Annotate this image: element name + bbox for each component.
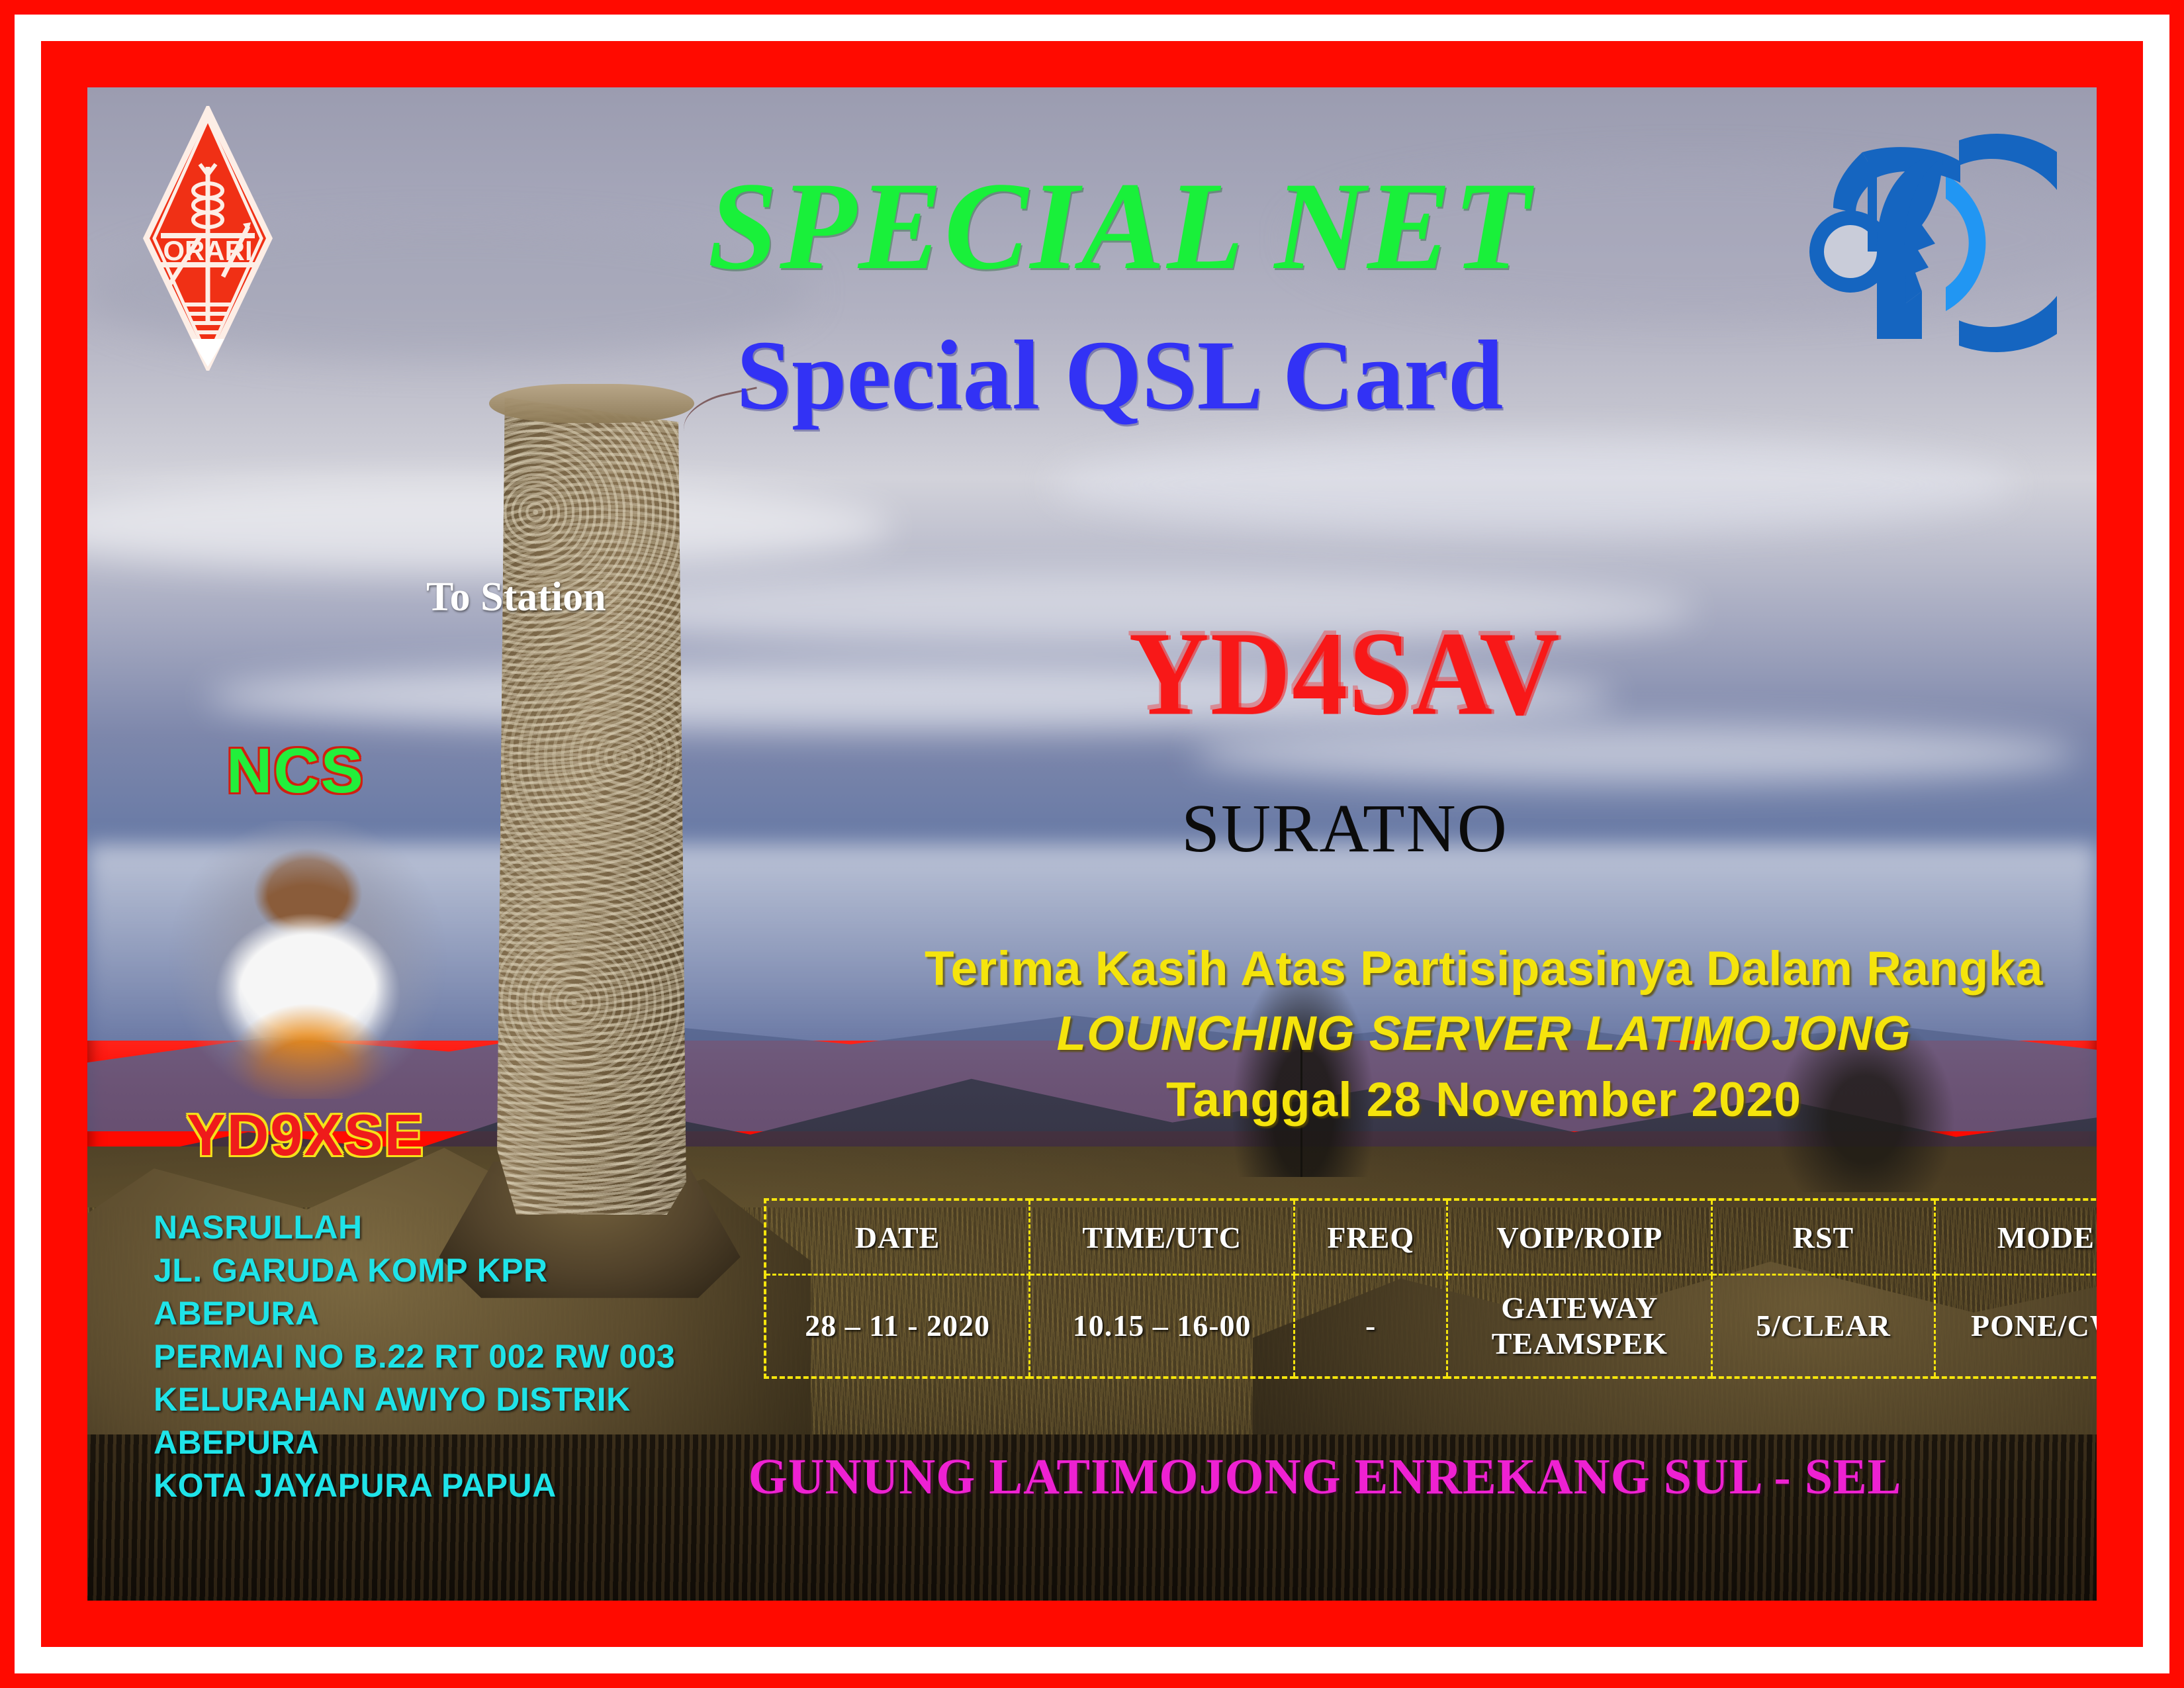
ncs-callsign: YD9XSE <box>187 1102 424 1169</box>
address-line: KELURAHAN AWIYO DISTRIK <box>154 1378 675 1421</box>
cell-rst: 5/CLEAR <box>1712 1275 1935 1378</box>
ncs-operator-photo <box>165 821 450 1099</box>
column-header-voip: VOIP/ROIP <box>1447 1199 1712 1275</box>
cell-date: 28 – 11 - 2020 <box>765 1275 1030 1378</box>
ncs-label: NCS <box>226 735 365 808</box>
event-date: Tanggal 28 November 2020 <box>815 1072 2097 1127</box>
card-white-gap: ORARI <box>15 15 2169 1673</box>
address-line: JL. GARUDA KOMP KPR <box>154 1249 675 1292</box>
thanks-line: Terima Kasih Atas Partisipasinya Dalam R… <box>815 941 2097 996</box>
event-subject: LOUNCHING SERVER LATIMOJONG <box>815 1006 2097 1061</box>
column-header-freq: FREQ <box>1295 1199 1447 1275</box>
column-header-date: DATE <box>765 1199 1030 1275</box>
table-row: 28 – 11 - 2020 10.15 – 16-00 - GATEWAY T… <box>765 1275 2097 1378</box>
card-background-photo: ORARI <box>87 87 2097 1601</box>
column-header-time: TIME/UTC <box>1030 1199 1295 1275</box>
page-title: SPECIAL NET <box>458 164 1782 289</box>
station-callsign: YD4SAV <box>908 605 1782 743</box>
cell-mode: PONE/CW <box>1934 1275 2097 1378</box>
qso-details-table: DATE TIME/UTC FREQ VOIP/ROIP RST MODE 28… <box>764 1198 2097 1379</box>
address-line: PERMAI NO B.22 RT 002 RW 003 <box>154 1335 675 1378</box>
page-subtitle: Special QSL Card <box>458 326 1782 425</box>
qsl-card: ORARI <box>0 0 2184 1688</box>
operator-name: SURATNO <box>908 789 1782 868</box>
content-layer: ORARI <box>87 87 2097 1601</box>
address-line: NASRULLAH <box>154 1206 675 1249</box>
to-station-label: To Station <box>426 574 606 621</box>
column-header-mode: MODE <box>1934 1199 2097 1275</box>
table-header-row: DATE TIME/UTC FREQ VOIP/ROIP RST MODE <box>765 1199 2097 1275</box>
cell-voip-line1: GATEWAY <box>1501 1291 1658 1325</box>
cell-freq: - <box>1295 1275 1447 1378</box>
cell-voip: GATEWAY TEAMSPEK <box>1447 1275 1712 1378</box>
orari-logo-text: ORARI <box>163 235 252 266</box>
orari-logo: ORARI <box>137 106 279 371</box>
voip-headset-logo <box>1799 114 2057 372</box>
location-caption: GUNUNG LATIMOJONG ENREKANG SUL - SEL <box>590 1448 2060 1506</box>
cell-voip-line2: TEAMSPEK <box>1492 1327 1668 1360</box>
address-line: ABEPURA <box>154 1292 675 1335</box>
cell-time: 10.15 – 16-00 <box>1030 1275 1295 1378</box>
card-inner-red-border: ORARI <box>41 41 2143 1647</box>
column-header-rst: RST <box>1712 1199 1935 1275</box>
